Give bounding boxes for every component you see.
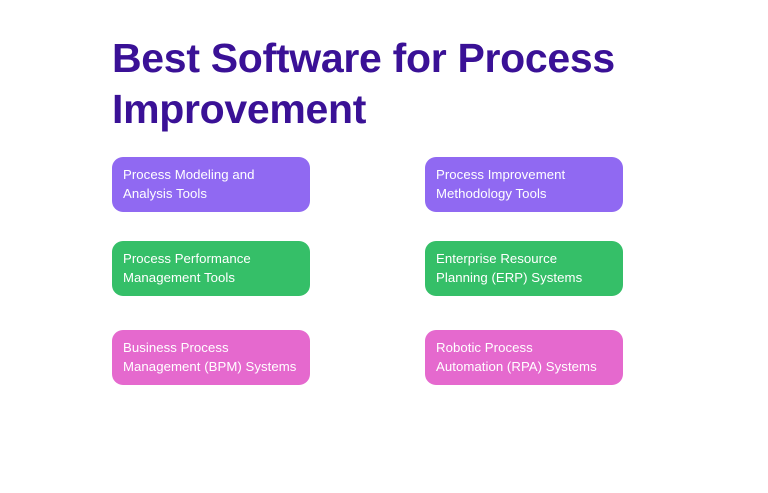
card-label: Process Modeling and Analysis Tools [112,165,254,204]
infographic-canvas: Best Software for Process Improvement Pr… [0,0,768,493]
card-process-improvement-methodology-tools[interactable]: Process Improvement Methodology Tools [425,157,623,212]
card-label: Robotic Process Automation (RPA) Systems [425,338,597,377]
card-label: Enterprise Resource Planning (ERP) Syste… [425,249,582,288]
card-label: Process Performance Management Tools [112,249,251,288]
card-enterprise-resource-planning-erp-systems[interactable]: Enterprise Resource Planning (ERP) Syste… [425,241,623,296]
card-grid: Process Modeling and Analysis Tools Proc… [0,0,768,493]
card-process-performance-management-tools[interactable]: Process Performance Management Tools [112,241,310,296]
card-label: Business Process Management (BPM) System… [112,338,296,377]
card-robotic-process-automation-rpa-systems[interactable]: Robotic Process Automation (RPA) Systems [425,330,623,385]
card-label: Process Improvement Methodology Tools [425,165,565,204]
card-process-modeling-and-analysis-tools[interactable]: Process Modeling and Analysis Tools [112,157,310,212]
card-business-process-management-bpm-systems[interactable]: Business Process Management (BPM) System… [112,330,310,385]
